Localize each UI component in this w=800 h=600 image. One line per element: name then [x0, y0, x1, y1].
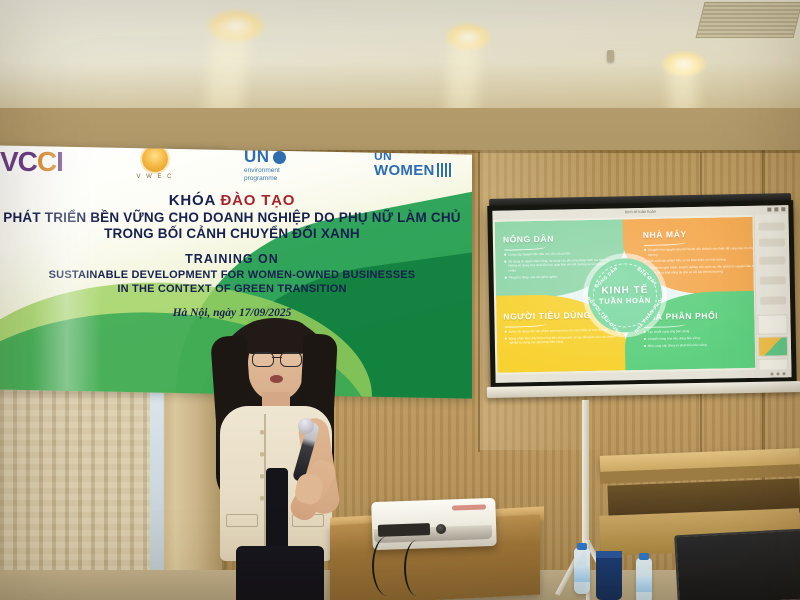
projected-image: Kinh tế tuần hoàn: [492, 205, 791, 383]
lens: [252, 352, 274, 367]
bullet-item: Sản xuất sản phẩm hữu cơ và thân thiện v…: [644, 257, 755, 264]
app-sidebar[interactable]: [753, 214, 791, 370]
minimize-icon[interactable]: [767, 208, 771, 212]
air-vent-icon: [696, 2, 800, 38]
slide-thumbnail[interactable]: [757, 314, 787, 335]
sidebar-chip[interactable]: [759, 256, 785, 264]
quadrant-title-nong-dan: NÔNG DÂN: [503, 234, 554, 245]
bottle-cap: [577, 543, 587, 550]
bullet-list-nha-phan-phoi: Tạo chuỗi cung ứng bền vững Chuyển hàng …: [644, 328, 756, 351]
unwomen-line2: WOMEN: [374, 162, 435, 179]
bullet-item: Nhà cung cấp đồng và phát triển bền vững: [644, 341, 755, 348]
cup-band: [596, 551, 622, 558]
unep-line2: environment: [244, 167, 286, 175]
bullet-item: Chuyển hóa nguyên liệu thô thành sản phẩ…: [644, 246, 755, 257]
screen-frame: Kinh tế tuần hoàn: [487, 200, 796, 388]
sidebar-chip[interactable]: [759, 222, 785, 230]
bullet-item: Được sử dụng các sản phẩm xanh an toàn c…: [505, 327, 619, 334]
vwec-label: V W E C: [132, 174, 178, 180]
title-vn-1a: KHÓA: [169, 192, 221, 209]
bullet-item: Chuyển hàng hóa tiêu dùng bền vững: [644, 335, 756, 342]
un-environment-logo: UN environmentprogramme: [244, 148, 286, 183]
status-indicators[interactable]: [770, 372, 785, 375]
vest-button: [260, 430, 264, 434]
bottle-label: [574, 566, 590, 582]
window-blind: [0, 380, 150, 595]
unep-line3: programme: [244, 175, 286, 183]
unep-un-text: UN: [244, 147, 270, 166]
bullet-item: Tăng tính cạnh tranh: Doanh nghiệp sản x…: [644, 264, 755, 275]
vest-button: [260, 496, 264, 500]
vest-pocket: [226, 514, 258, 527]
bottle-cap: [639, 553, 649, 560]
bullet-list-nguoi-tieu-dung: Được sử dụng các sản phẩm xanh an toàn c…: [505, 327, 619, 347]
window-controls[interactable]: [767, 207, 785, 211]
slide-thumbnail-active[interactable]: [758, 336, 788, 357]
sprinkler-icon: [607, 50, 614, 61]
un-women-logo: UN WOMEN: [374, 150, 453, 178]
glasses-icon: [252, 352, 302, 365]
projection-screen: Kinh tế tuần hoàn: [487, 193, 797, 399]
status-dot[interactable]: [782, 372, 785, 375]
blue-cup: [596, 551, 622, 600]
projector-cable: [404, 540, 430, 596]
vwec-flower-icon: [142, 146, 168, 172]
circular-economy-slide: NÔNG DÂN Cung cấp nguyên liệu đầu vào ch…: [495, 217, 756, 373]
bullet-item: Cung cấp nguyên liệu đầu vào cho sản phẩ…: [504, 250, 618, 257]
projector-ports[interactable]: [378, 523, 430, 537]
sidebar-chip[interactable]: [759, 238, 785, 246]
vest-button: [260, 452, 264, 456]
bullet-item: Nâng phần thúc đẩy thị trường tiêu dùng …: [505, 334, 619, 345]
app-window-title: Kinh tế tuần hoàn: [625, 209, 656, 215]
quadrant-title-nha-may: NHÀ MÁY: [643, 229, 687, 240]
laptop[interactable]: [674, 529, 800, 600]
maximize-icon[interactable]: [774, 207, 778, 211]
hair-fringe: [240, 320, 312, 354]
vwec-logo: V W E C: [132, 146, 178, 180]
close-icon[interactable]: [781, 207, 785, 211]
banner-glare: [32, 146, 102, 391]
quadrant-title-nguoi-tieu-dung: NGƯỜI TIÊU DÙNG: [503, 310, 591, 322]
conference-room-photo: VCCI V W E C UN environmentprogramme UN …: [0, 0, 800, 600]
sidebar-chip[interactable]: [760, 296, 786, 304]
projector-cable: [372, 536, 404, 596]
unep-globe-icon: [273, 151, 286, 164]
unwomen-grid-icon: [437, 163, 453, 177]
bullet-item: Tạo chuỗi cung ứng bền vững: [644, 328, 756, 335]
hub-line2: TUẦN HOÀN: [588, 296, 662, 306]
lens: [280, 352, 302, 367]
mouth: [270, 375, 283, 383]
title-vn-1b: ĐÀO TẠO: [221, 192, 296, 209]
vest-button: [260, 474, 264, 478]
bottle-label: [636, 576, 652, 592]
trousers: [236, 546, 324, 600]
status-dot[interactable]: [776, 372, 779, 375]
screen-stand-pole: [582, 400, 589, 550]
vest-seam: [264, 414, 266, 554]
sidebar-chip[interactable]: [760, 276, 786, 284]
status-dot[interactable]: [770, 372, 773, 375]
bullet-list-nha-may: Chuyển hóa nguyên liệu thô thành sản phẩ…: [644, 246, 755, 278]
